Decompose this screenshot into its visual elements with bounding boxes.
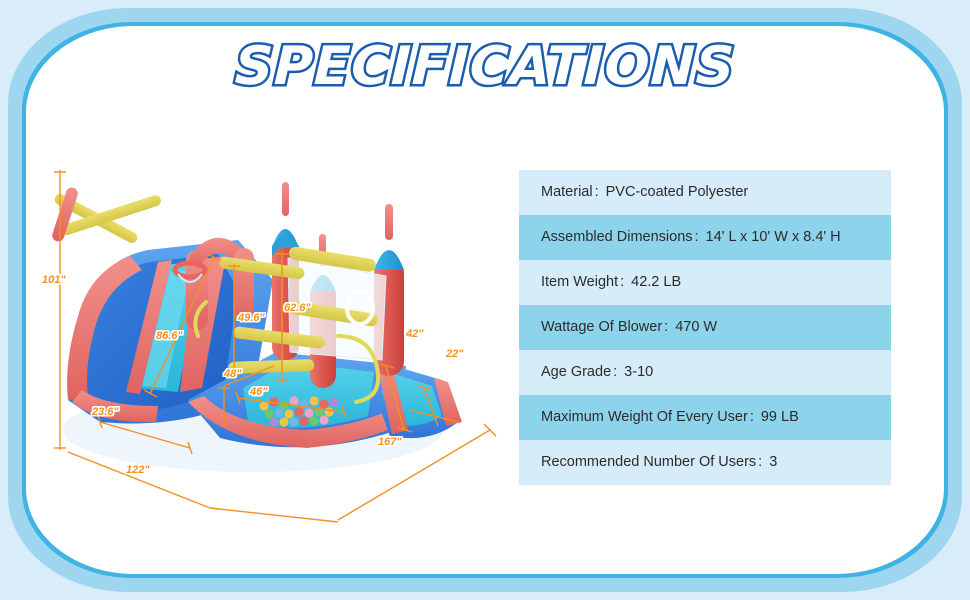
spec-value-assembled-dimensions: 14' L x 10' W x 8.4' H: [701, 229, 841, 245]
spec-label-wattage-of-blower: Wattage Of Blower: [541, 319, 662, 335]
spec-separator: :: [662, 319, 670, 335]
dimension-label-footprint-depth: 122": [126, 464, 150, 476]
spec-separator: :: [611, 364, 619, 380]
spec-row-age-grade: Age Grade:3-10: [519, 350, 891, 395]
dimension-label-pool-depth: 48": [224, 368, 241, 380]
spec-row-material: Material:PVC-coated Polyester: [519, 170, 891, 215]
specifications-table: Material:PVC-coated Polyester Assembled …: [519, 170, 891, 485]
spec-separator: :: [593, 184, 601, 200]
spec-separator: :: [618, 274, 626, 290]
spec-row-assembled-dimensions: Assembled Dimensions:14' L x 10' W x 8.4…: [519, 215, 891, 260]
dimension-label-footprint-length: 167": [378, 436, 402, 448]
spec-label-maximum-weight-of-every-user: Maximum Weight Of Every User: [541, 409, 748, 425]
dimension-label-pool-width: 46": [250, 386, 267, 398]
dimension-label-right-step: 22": [446, 348, 463, 360]
spec-separator: :: [693, 229, 701, 245]
product-illustration-svg: [38, 130, 518, 550]
spec-label-assembled-dimensions: Assembled Dimensions: [541, 229, 693, 245]
dimension-label-right-slide: 42": [406, 328, 423, 340]
dimension-label-tower-height: 62.6": [284, 302, 311, 314]
spec-value-item-weight: 42.2 LB: [626, 274, 681, 290]
spec-value-recommended-number-of-users: 3: [764, 454, 777, 470]
tower-right-spire: [385, 204, 393, 240]
spec-value-maximum-weight-of-every-user: 99 LB: [756, 409, 799, 425]
spec-label-material: Material: [541, 184, 593, 200]
spec-value-wattage-of-blower: 470 W: [670, 319, 717, 335]
spec-row-wattage-of-blower: Wattage Of Blower:470 W: [519, 305, 891, 350]
spec-label-age-grade: Age Grade: [541, 364, 611, 380]
spec-label-recommended-number-of-users: Recommended Number Of Users: [541, 454, 756, 470]
spec-value-age-grade: 3-10: [619, 364, 653, 380]
spec-label-item-weight: Item Weight: [541, 274, 618, 290]
spec-value-material: PVC-coated Polyester: [601, 184, 749, 200]
dimension-label-slide-base-width: 23.6": [92, 406, 119, 418]
specifications-page: SPECIFICATIONS: [0, 0, 970, 600]
tower-right-cone: [374, 250, 404, 270]
spec-separator: :: [748, 409, 756, 425]
spec-row-recommended-number-of-users: Recommended Number Of Users:3: [519, 440, 891, 485]
spec-separator: :: [756, 454, 764, 470]
product-illustration: 101" 86.6" 23.6" 49.6" 62.6" 48" 46" 42"…: [38, 130, 518, 550]
tower-center-left-spire: [282, 182, 289, 216]
spec-row-maximum-weight-of-every-user: Maximum Weight Of Every User:99 LB: [519, 395, 891, 440]
spec-row-item-weight: Item Weight:42.2 LB: [519, 260, 891, 305]
dimension-label-height-total: 101": [42, 274, 66, 286]
dimension-label-wall-height: 49.6": [238, 312, 265, 324]
dimension-label-slide-length: 86.6": [156, 330, 183, 342]
